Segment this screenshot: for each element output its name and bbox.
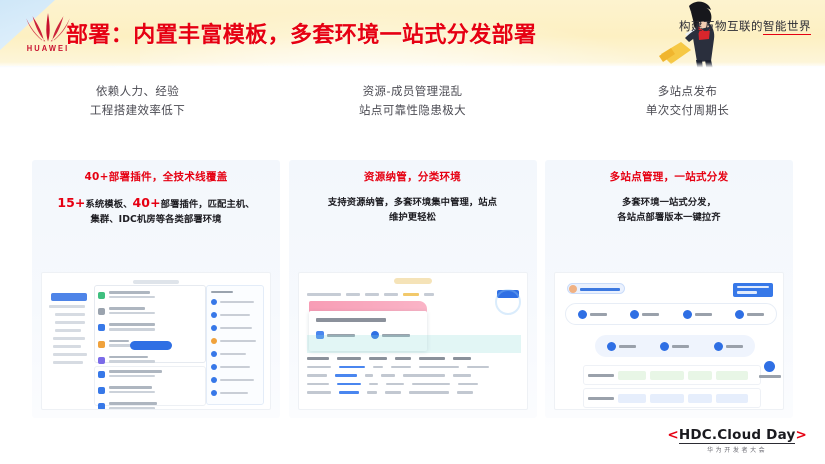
problem-item-2: 资源-成员管理混乱 站点可靠性隐患极大 xyxy=(275,82,550,120)
feature-cards-row: 40+部署插件，全技术线覆盖 15+系统模板、40+部署插件，匹配主机、 集群、… xyxy=(0,160,825,422)
footer-title: <HDC.Cloud Day> xyxy=(667,427,807,443)
shot2-decor-ring xyxy=(495,289,521,315)
footer-subtitle: 华为开发者大会 xyxy=(667,445,807,454)
table-row[interactable] xyxy=(307,391,521,394)
footer-logo: <HDC.Cloud Day> 华为开发者大会 xyxy=(667,427,807,454)
card-2-title: 资源纳管，分类环境 xyxy=(289,170,537,184)
card-1-line-2: 集群、IDC机房等各类部署环境 xyxy=(90,214,221,225)
shot2-dialog-title xyxy=(316,318,386,322)
shot3-env-group-1[interactable] xyxy=(583,365,761,385)
table-row[interactable] xyxy=(307,383,521,386)
huawei-wordmark: HUAWEI xyxy=(27,44,70,53)
avatar xyxy=(569,285,577,293)
shot1-header-title xyxy=(133,280,179,284)
problem-2-line-2: 站点可靠性隐患极大 xyxy=(275,101,550,120)
person-mascot-icon xyxy=(641,0,737,70)
shot3-pipeline-stage-row-2[interactable] xyxy=(595,335,755,357)
footer-bracket-left: < xyxy=(667,427,679,443)
page-header: HUAWEI 部署：内置丰富模板，多套环境一站式分发部署 构建万物互联的智能世界 xyxy=(0,0,825,70)
multi-site-pipeline-screenshot[interactable] xyxy=(554,272,784,410)
card-1-mid: 系统模板、 xyxy=(86,199,133,210)
pipeline-node[interactable] xyxy=(660,342,689,351)
shot2-breadcrumb-bar[interactable] xyxy=(307,291,521,298)
table-row[interactable] xyxy=(307,366,521,369)
header-fade xyxy=(0,62,825,70)
shot3-end-node[interactable] xyxy=(764,361,775,372)
problem-3-line-1: 多站点发布 xyxy=(550,82,825,101)
tagline-underlined: 智能世界 xyxy=(763,19,811,35)
card-1-body: 15+系统模板、40+部署插件，匹配主机、 集群、IDC机房等各类部署环境 xyxy=(32,195,280,227)
page-title: 部署：内置丰富模板，多套环境一站式分发部署 xyxy=(66,17,536,49)
resource-management-table-screenshot[interactable] xyxy=(298,272,528,410)
card-3-title: 多站点管理，一站式分发 xyxy=(545,170,793,184)
shot2-selection-highlight xyxy=(307,335,521,353)
card-1-post: 部署插件，匹配主机、 xyxy=(161,199,255,210)
pipeline-node[interactable] xyxy=(683,310,712,319)
shot3-status-card[interactable] xyxy=(733,283,773,297)
problem-1-line-1: 依赖人力、经验 xyxy=(0,82,275,101)
shot3-user-chip[interactable] xyxy=(567,283,625,294)
pipeline-node[interactable] xyxy=(578,310,607,319)
card-2-line-2: 维护更轻松 xyxy=(389,212,436,223)
shot3-env-group-2[interactable] xyxy=(583,388,761,408)
deploy-plugins-list-screenshot[interactable] xyxy=(41,272,271,410)
huawei-flower-icon xyxy=(26,13,70,43)
card-3-body: 多套环境一站式分发， 各站点部署版本一键拉齐 xyxy=(545,195,793,225)
tagline-plain: 构建万物互联的 xyxy=(679,19,763,33)
feature-card-deploy-plugins: 40+部署插件，全技术线覆盖 15+系统模板、40+部署插件，匹配主机、 集群、… xyxy=(32,160,280,418)
card-1-highlight-1: 15+ xyxy=(57,195,85,210)
problem-1-line-2: 工程搭建效率低下 xyxy=(0,101,275,120)
shot1-tree-sidebar[interactable] xyxy=(49,293,91,369)
pipeline-node[interactable] xyxy=(714,342,743,351)
card-3-line-1: 多套环境一站式分发， xyxy=(622,197,716,208)
footer-bracket-right: > xyxy=(795,427,807,443)
feature-card-multi-site: 多站点管理，一站式分发 多套环境一站式分发， 各站点部署版本一键拉齐 xyxy=(545,160,793,418)
pipeline-node[interactable] xyxy=(735,310,764,319)
shot2-top-tab[interactable] xyxy=(394,278,432,284)
card-3-line-2: 各站点部署版本一键拉齐 xyxy=(617,212,720,223)
footer-main-text: HDC.Cloud Day xyxy=(679,427,796,444)
shot1-primary-button[interactable] xyxy=(130,341,172,350)
problem-item-3: 多站点发布 单次交付周期长 xyxy=(550,82,825,120)
problem-2-line-1: 资源-成员管理混乱 xyxy=(275,82,550,101)
shot3-pipeline-stage-row-1[interactable] xyxy=(565,303,777,325)
problem-item-1: 依赖人力、经验 工程搭建效率低下 xyxy=(0,82,275,120)
shot1-right-detail-panel[interactable] xyxy=(206,285,264,405)
feature-card-resource-management: 资源纳管，分类环境 支持资源纳管，多套环境集中管理，站点 维护更轻松 xyxy=(289,160,537,418)
shot2-table[interactable] xyxy=(307,357,521,400)
header-tagline: 构建万物互联的智能世界 xyxy=(679,18,811,34)
problem-3-line-2: 单次交付周期长 xyxy=(550,101,825,120)
pipeline-node[interactable] xyxy=(607,342,636,351)
shot1-secondary-list[interactable] xyxy=(98,370,198,410)
shot3-user-label xyxy=(580,288,620,291)
shot1-tree-selected-node[interactable] xyxy=(51,293,87,301)
table-row[interactable] xyxy=(307,374,521,377)
table-header-row xyxy=(307,357,521,360)
card-2-line-1: 支持资源纳管，多套环境集中管理，站点 xyxy=(328,197,497,208)
card-1-highlight-2: 40+ xyxy=(133,195,161,210)
card-2-body: 支持资源纳管，多套环境集中管理，站点 维护更轻松 xyxy=(289,195,537,225)
card-1-title: 40+部署插件，全技术线覆盖 xyxy=(32,170,280,184)
shot3-end-label xyxy=(759,375,781,378)
pipeline-node[interactable] xyxy=(630,310,659,319)
problem-statement-row: 依赖人力、经验 工程搭建效率低下 资源-成员管理混乱 站点可靠性隐患极大 多站点… xyxy=(0,82,825,120)
